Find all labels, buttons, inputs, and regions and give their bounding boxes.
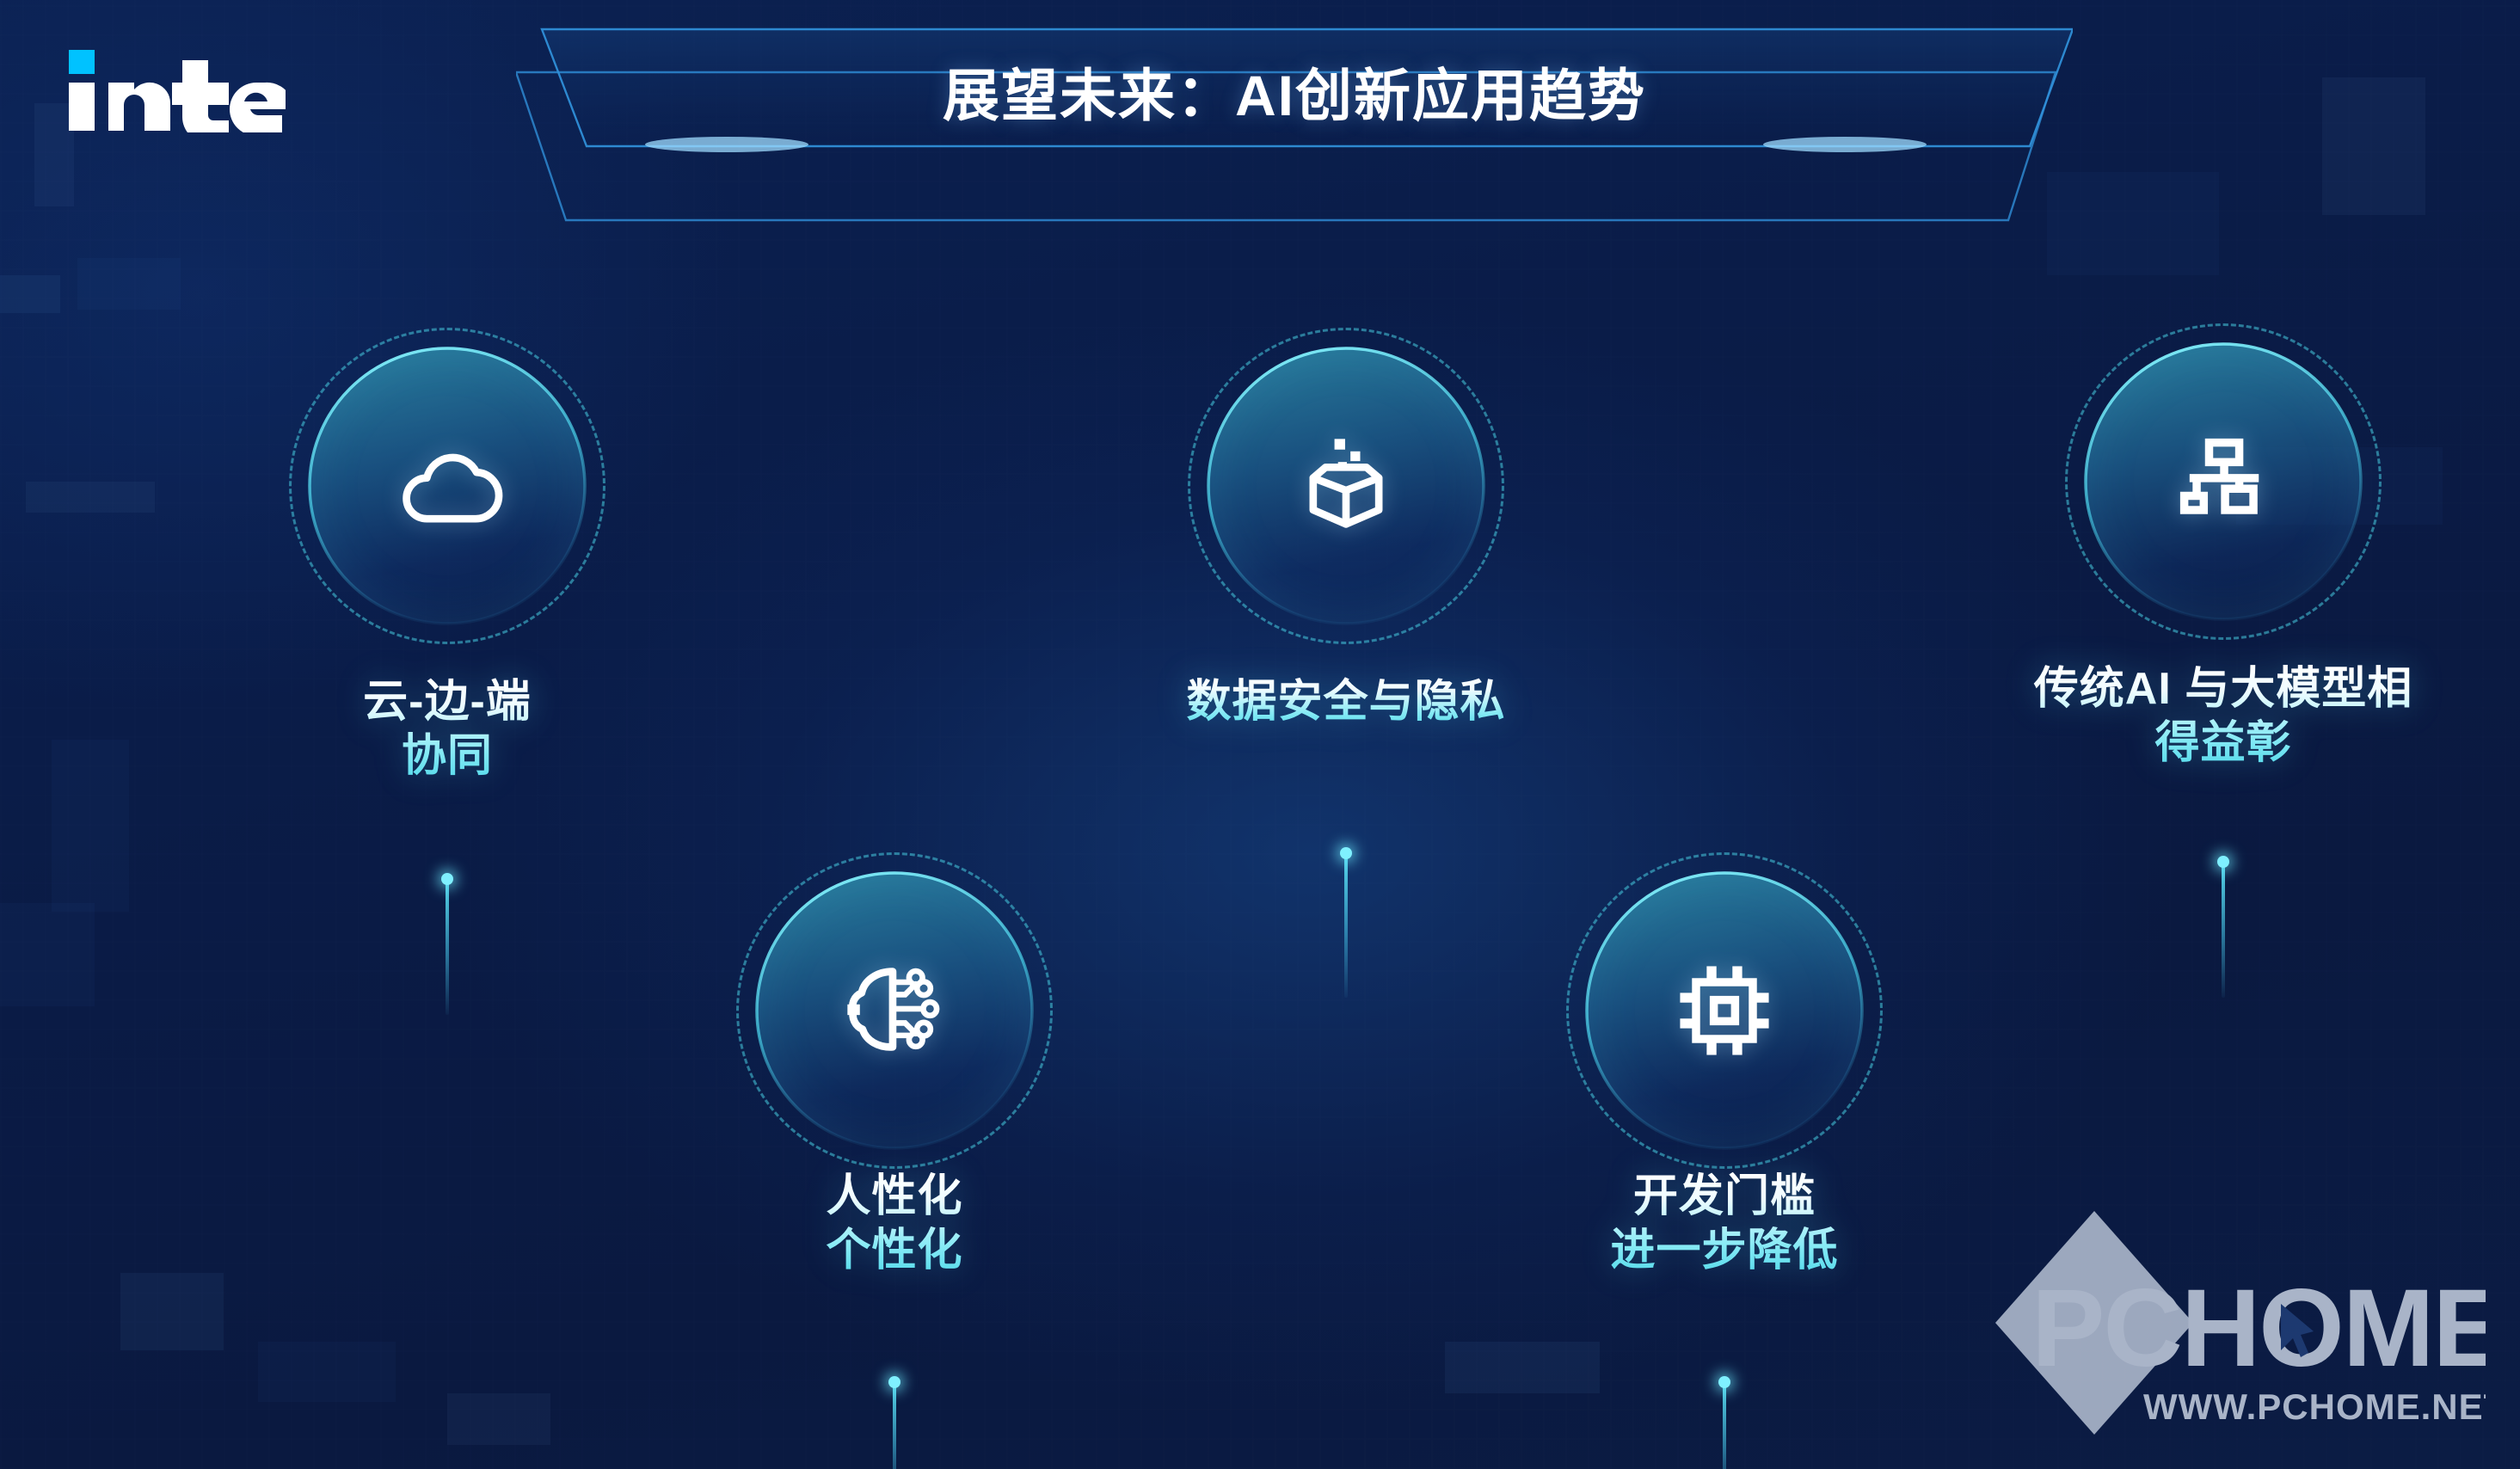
node-label: 传统AI 与大模型相 得益彰 [1828, 662, 2520, 771]
connector-dot [1718, 1376, 1730, 1388]
hierarchy-network-icon [2086, 344, 2361, 619]
connector-stem [2222, 860, 2225, 998]
connector-stem [446, 877, 449, 1015]
intel-logo [62, 38, 286, 132]
title-banner: 展望未来：AI创新应用趋势 [516, 19, 2073, 234]
connector-dot [888, 1376, 900, 1388]
connector-stem [893, 1380, 896, 1469]
cloud-icon [310, 348, 585, 624]
connector-stem [1344, 851, 1348, 998]
slide-canvas: 展望未来：AI创新应用趋势 [0, 0, 2520, 1469]
watermark-url: WWW.PCHOME.NET [2143, 1386, 2486, 1427]
open-box-icon [1208, 348, 1484, 624]
node-label: 数据安全与隐私 [1002, 675, 1690, 729]
node-label: 云-边-端 协同 [155, 675, 740, 784]
node-label: 开发门槛 进一步降低 [1415, 1170, 2034, 1279]
connector-dot [2217, 856, 2229, 868]
connector-dot [1340, 847, 1352, 859]
intel-logo-dot [69, 50, 95, 74]
connector-dot [441, 873, 453, 885]
ai-brain-circuit-icon [757, 873, 1032, 1148]
connector-stem [1723, 1380, 1726, 1469]
page-title: 展望未来：AI创新应用趋势 [516, 50, 2073, 132]
node-label: 人性化 个性化 [602, 1170, 1187, 1279]
pchome-watermark: PCHOME WWW.PCHOME.NET [1978, 1194, 2486, 1452]
cpu-chip-icon [1587, 873, 1862, 1148]
watermark-brand: PCHOME [2031, 1267, 2486, 1390]
